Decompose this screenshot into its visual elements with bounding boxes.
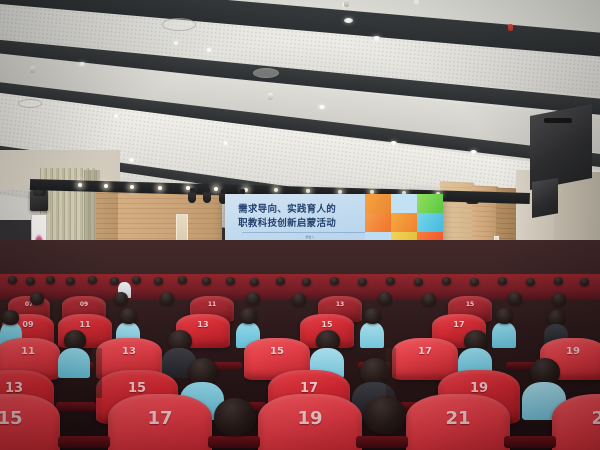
- audience-head-r2-c: [530, 358, 560, 385]
- mosaic-tile-5: [417, 213, 443, 232]
- far-head-18: [414, 278, 423, 286]
- far-head-20: [470, 278, 479, 286]
- audience-head-r5-d: [246, 292, 260, 305]
- ceiling-diffuser-3: [18, 99, 42, 108]
- mosaic-tile-3: [365, 213, 391, 232]
- audience-head-r5-e: [292, 293, 306, 306]
- stage-spotlight-1: [188, 192, 196, 203]
- mosaic-tile-0: [365, 194, 391, 213]
- soffit-light-3: [130, 185, 134, 189]
- audience-head-r4-b: [120, 308, 137, 324]
- center-aisle-shadow: [92, 348, 102, 398]
- ceiling-diffuser-2: [253, 68, 279, 78]
- ceiling-downlight-11: [390, 141, 397, 145]
- seat-r3-3[interactable]: 17: [392, 338, 458, 380]
- slide-title-line1: 需求导向、实践育人的: [238, 203, 373, 218]
- seat-number-r1-3: 21: [445, 408, 470, 429]
- audience-head-r1-b: [364, 396, 406, 434]
- far-head-14: [302, 278, 311, 286]
- audience-head-r4-c: [240, 308, 257, 324]
- ceiling-downlight-6: [372, 36, 381, 41]
- ceiling-downlight-7: [205, 48, 213, 52]
- slide-title-line2: 职教科技创新启蒙活动: [238, 217, 373, 232]
- ceiling-downlight-12: [470, 150, 477, 154]
- ceiling-downlight-4: [172, 41, 180, 45]
- far-head-17: [386, 277, 395, 285]
- soffit-light-8: [274, 188, 278, 192]
- seat-r1-1[interactable]: 17: [108, 394, 212, 450]
- ceiling-downlight-5: [344, 18, 353, 23]
- far-head-23: [554, 277, 563, 285]
- audience-shoulder-r4-d: [360, 322, 384, 348]
- ceiling-downlight-9: [112, 114, 120, 118]
- seat-number-r4-3: 15: [321, 320, 332, 329]
- audience-head-r5-i: [552, 293, 566, 306]
- armrest-r1-2: [208, 436, 260, 448]
- seat-number-r1-1: 17: [147, 408, 172, 429]
- armrest-r1-4: [504, 436, 556, 448]
- mosaic-tile-4: [391, 213, 417, 232]
- audience-head-r3-a: [64, 330, 86, 350]
- far-head-4: [66, 277, 75, 285]
- ceiling-diffuser-1: [162, 18, 196, 31]
- ceiling-downlight-13: [128, 158, 135, 162]
- audience-head-r4-d: [364, 308, 381, 324]
- audience-head-r2-a: [188, 358, 218, 385]
- far-head-6: [110, 277, 119, 285]
- seat-number-r1-0: 15: [0, 408, 23, 429]
- sprinkler-head-2: [30, 66, 35, 73]
- seat-number-r4-1: 11: [79, 320, 90, 329]
- stage-spotlight-2: [203, 192, 211, 203]
- ceiling-downlight-3: [78, 62, 86, 66]
- slide-divider: [242, 232, 368, 233]
- far-head-3: [46, 276, 55, 284]
- seat-number-r5-3: 13: [336, 301, 344, 308]
- seat-number-r3-3: 17: [418, 346, 432, 357]
- far-head-16: [358, 278, 367, 286]
- sprinkler-head-4: [268, 93, 273, 100]
- far-head-9: [178, 276, 187, 284]
- far-head-8: [154, 277, 163, 285]
- seat-number-r4-2: 13: [197, 320, 208, 329]
- seat-number-r3-0: 11: [21, 346, 35, 357]
- seat-number-r5-1: 09: [80, 301, 88, 308]
- armrest-r1-3: [356, 436, 408, 448]
- far-head-2: [26, 277, 35, 285]
- audience-head-r5-f: [378, 292, 392, 305]
- hanging-speaker-lower: [532, 178, 558, 218]
- far-head-11: [226, 277, 235, 285]
- far-head-1: [8, 276, 17, 284]
- mosaic-tile-2: [417, 194, 443, 213]
- audience-head-r5-g: [422, 293, 436, 306]
- far-head-10: [202, 277, 211, 285]
- right-aisle-shadow: [386, 348, 396, 398]
- far-head-22: [526, 278, 535, 286]
- soffit-light-4: [158, 186, 162, 190]
- soffit-light-9: [306, 189, 310, 193]
- seat-number-r1-4: 23: [591, 408, 600, 429]
- mosaic-tile-1: [391, 194, 417, 213]
- ceiling-downlight-10: [222, 141, 229, 145]
- seat-r1-2[interactable]: 19: [258, 394, 362, 450]
- speaker-vent: [544, 118, 573, 123]
- armrest-r1-1: [58, 436, 110, 448]
- soffit-light-2: [104, 184, 108, 188]
- audience-head-r5-a: [30, 292, 44, 305]
- seat-number-r3-4: 19: [566, 346, 580, 357]
- sprinkler-head-1: [344, 0, 349, 7]
- soffit-light-1: [78, 183, 82, 187]
- far-head-21: [498, 277, 507, 285]
- sprinkler-head-3: [508, 24, 513, 31]
- seat-number-r5-2: 11: [208, 301, 216, 308]
- seat-number-r4-0: 09: [22, 320, 33, 329]
- armrest-r2-1: [56, 402, 96, 411]
- seat-number-r4-4: 17: [453, 320, 464, 329]
- seat-number-r3-2: 15: [270, 346, 284, 357]
- audience-head-r5-h: [508, 292, 522, 305]
- far-head-12: [250, 278, 259, 286]
- soffit-light-7: [244, 188, 248, 192]
- seat-r1-3[interactable]: 21: [406, 394, 510, 450]
- audience-head-r5-b: [114, 292, 128, 305]
- audience-head-r4-a: [2, 310, 19, 325]
- auditorium-photo: 需求导向、实践育人的 职教科技创新启蒙活动 报告人 职业教育科技创新启蒙活动的背…: [0, 0, 600, 450]
- audience-shoulder-r3-a: [58, 348, 90, 378]
- far-head-19: [442, 277, 451, 285]
- far-head-13: [276, 277, 285, 285]
- audience-head-r1-a: [214, 398, 256, 436]
- far-head-15: [330, 277, 339, 285]
- seat-number-r5-4: 15: [466, 301, 474, 308]
- audience-head-r5-c: [160, 292, 174, 305]
- far-head-5: [88, 276, 97, 284]
- seat-r1-0[interactable]: 15: [0, 394, 60, 450]
- hanging-speaker-upper: [530, 104, 592, 190]
- far-head-24: [580, 278, 589, 286]
- audience-shoulder-r4-e: [492, 322, 516, 348]
- seat-number-r3-1: 13: [122, 346, 136, 357]
- far-head-7: [132, 276, 141, 284]
- ceiling-downlight-8: [318, 105, 326, 109]
- soffit-light-6: [214, 187, 218, 191]
- audience-head-r4-e: [496, 308, 513, 324]
- seat-number-r1-2: 19: [297, 408, 322, 429]
